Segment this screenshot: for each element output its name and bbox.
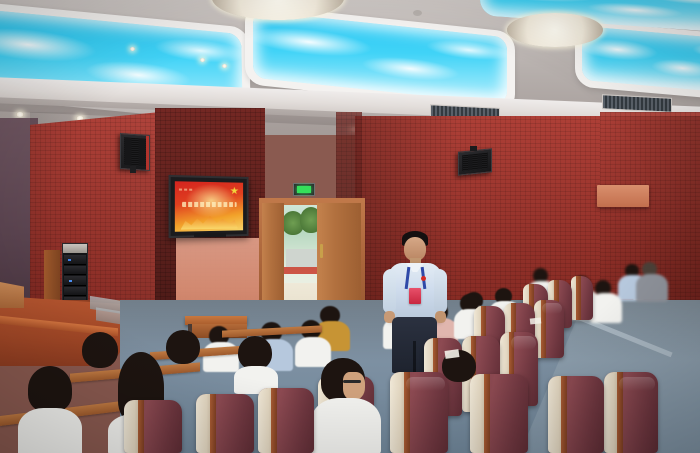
seat-highlight xyxy=(511,336,536,349)
instructor-arm-left xyxy=(383,269,396,313)
seat[interactable] xyxy=(258,388,314,453)
presentation-screen-content xyxy=(175,181,243,232)
seat-highlight xyxy=(619,377,655,392)
seated-student-left-5 xyxy=(238,336,286,390)
seat-highlight xyxy=(542,303,562,313)
speaker-bracket-right xyxy=(470,146,477,151)
seat-frame xyxy=(271,388,277,453)
seated-student-midfront xyxy=(440,350,486,410)
student-head xyxy=(82,332,118,368)
instructor-trouser-gap xyxy=(413,341,416,373)
seat-frame xyxy=(138,400,144,453)
instructor-id-badge xyxy=(409,288,421,304)
seat-side-panel xyxy=(196,394,211,453)
student-head xyxy=(28,366,72,412)
seat[interactable] xyxy=(548,376,604,453)
student-head xyxy=(238,336,272,370)
door-handle[interactable] xyxy=(320,244,323,258)
seat-highlight xyxy=(406,377,444,392)
seat-side-panel xyxy=(548,376,563,453)
speaker-grille-right xyxy=(462,153,488,172)
student-body xyxy=(636,274,668,302)
student-body xyxy=(311,398,381,453)
paper-sheet xyxy=(530,317,542,324)
seated-student-left-4 xyxy=(166,330,212,380)
slide-headline-text xyxy=(182,202,237,208)
slide-sunburst-graphic xyxy=(181,211,238,229)
rack-unit-3 xyxy=(64,276,86,286)
seat-side-panel xyxy=(258,388,273,453)
downlight-9 xyxy=(130,47,135,51)
seat-side-panel xyxy=(124,400,139,453)
speaker-grille-left xyxy=(124,137,146,167)
rack-unit-1 xyxy=(64,255,86,265)
seat[interactable] xyxy=(124,400,182,453)
rack-top-panel xyxy=(63,244,87,253)
student-glasses-icon xyxy=(343,380,361,383)
screen-mount xyxy=(194,233,226,237)
exit-sign-glow-icon xyxy=(297,186,312,192)
rack-led-2 xyxy=(69,280,72,282)
rack-unit-2 xyxy=(64,266,86,275)
outside-red-banner xyxy=(284,267,318,274)
presentation-screen[interactable] xyxy=(169,175,249,238)
auditorium-photo xyxy=(0,0,700,453)
student-head xyxy=(166,330,200,364)
outside-tree-2 xyxy=(300,207,318,233)
student-body xyxy=(590,293,622,323)
rack-led-1 xyxy=(68,259,71,261)
downlight-10 xyxy=(200,58,205,62)
seat[interactable] xyxy=(534,300,564,358)
seat[interactable] xyxy=(196,394,254,453)
speaker-accent-left xyxy=(146,136,149,170)
seat-frame xyxy=(561,376,567,453)
round-light-right xyxy=(507,13,603,47)
rack-unit-4 xyxy=(64,287,86,296)
slide-subtext xyxy=(179,188,192,191)
exit-sign xyxy=(293,183,315,196)
outside-building xyxy=(286,249,318,267)
seated-student-left-3 xyxy=(82,332,128,386)
instructor-lapel-pin-icon xyxy=(421,276,426,281)
student-face xyxy=(343,372,365,400)
smoke-detector-icon xyxy=(413,10,422,16)
instructor-arm-right xyxy=(434,269,447,313)
downlight-11 xyxy=(222,64,227,68)
seat-frame xyxy=(576,276,581,320)
speaker-bracket-left xyxy=(130,166,136,173)
downlight-1 xyxy=(16,112,24,117)
seat[interactable] xyxy=(604,372,658,453)
wall-speaker-right xyxy=(458,148,492,176)
wall-panel-right xyxy=(597,185,649,207)
seat-frame xyxy=(210,394,216,453)
student-body xyxy=(18,408,82,453)
seated-student-left-1 xyxy=(26,366,86,453)
slide-star-emblem-icon xyxy=(230,187,238,195)
foreground-student xyxy=(315,358,395,453)
seat[interactable] xyxy=(571,276,593,320)
seat-side-panel xyxy=(604,372,618,453)
